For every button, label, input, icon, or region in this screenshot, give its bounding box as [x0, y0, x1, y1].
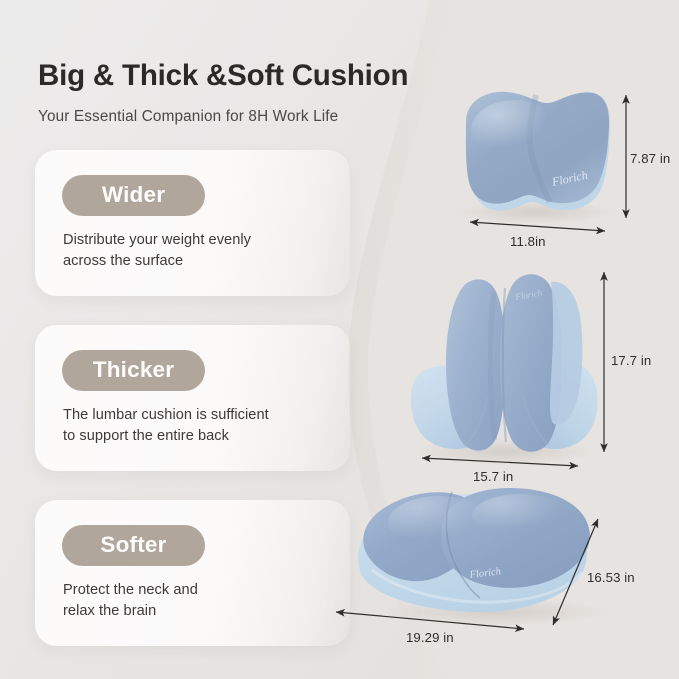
dimension-label-seat-depth: 16.53 in: [587, 570, 635, 585]
badge-label: Thicker: [93, 359, 174, 382]
badge-wider: Wider: [62, 175, 205, 216]
infographic-page: Big & Thick &Soft Cushion Your Essential…: [0, 0, 679, 679]
dimension-label-neck-height: 7.87 in: [630, 151, 670, 166]
dimension-label-lumbar-width: 15.7 in: [473, 469, 513, 484]
dimension-label-lumbar-height: 17.7 in: [611, 353, 651, 368]
badge-softer: Softer: [62, 525, 205, 566]
feature-description: Distribute your weight evenly across the…: [63, 230, 338, 271]
page-subtitle: Your Essential Companion for 8H Work Lif…: [38, 108, 338, 126]
dimension-label-neck-width: 11.8in: [510, 234, 546, 249]
feature-card-softer: Softer Protect the neck and relax the br…: [35, 500, 350, 646]
badge-label: Softer: [100, 534, 166, 557]
feature-card-wider: Wider Distribute your weight evenly acro…: [35, 150, 350, 296]
page-title: Big & Thick &Soft Cushion: [38, 59, 408, 93]
feature-description: The lumbar cushion is sufficient to supp…: [63, 405, 338, 446]
badge-thicker: Thicker: [62, 350, 205, 391]
badge-label: Wider: [102, 184, 165, 207]
dimension-label-seat-width: 19.29 in: [406, 630, 454, 645]
feature-card-thicker: Thicker The lumbar cushion is sufficient…: [35, 325, 350, 471]
feature-description: Protect the neck and relax the brain: [63, 580, 338, 621]
